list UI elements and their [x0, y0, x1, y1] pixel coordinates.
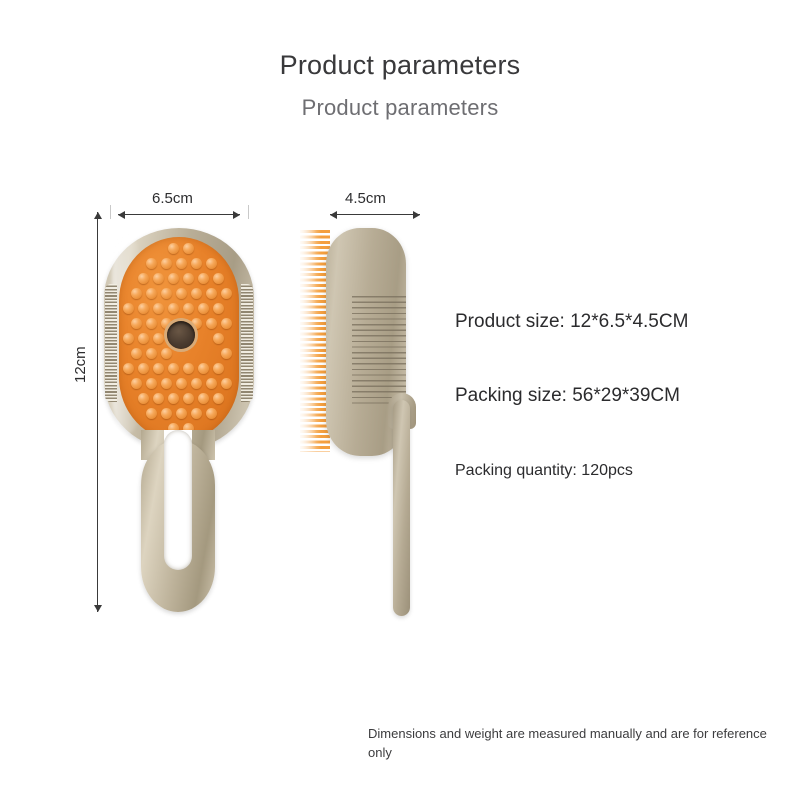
silicone-bump: [131, 288, 142, 299]
silicone-bump: [183, 363, 194, 374]
dimension-tick-right: [248, 205, 249, 219]
silicone-bump: [221, 378, 232, 389]
side-handle: [393, 400, 410, 616]
footer-disclaimer: Dimensions and weight are measured manua…: [368, 725, 768, 763]
silicone-bump: [146, 408, 157, 419]
silicone-bump: [213, 333, 224, 344]
silicone-bump: [213, 363, 224, 374]
dimension-arrow-height: [97, 212, 98, 612]
silicone-bump: [206, 258, 217, 269]
silicone-bump: [146, 318, 157, 329]
silicone-bump: [146, 288, 157, 299]
page-subtitle: Product parameters: [0, 95, 800, 121]
silicone-bump: [213, 273, 224, 284]
silicone-bump: [221, 348, 232, 359]
silicone-bump: [146, 258, 157, 269]
silicone-bump: [168, 243, 179, 254]
silicone-bump: [138, 363, 149, 374]
dimension-arrow-side-width: [330, 214, 420, 215]
silicone-bump: [183, 393, 194, 404]
silicone-bump: [153, 333, 164, 344]
silicone-bump: [168, 273, 179, 284]
silicone-bump: [198, 393, 209, 404]
silicone-bump: [123, 303, 134, 314]
silicone-bump: [206, 408, 217, 419]
product-front-view: [104, 228, 254, 450]
silicone-bump: [206, 378, 217, 389]
silicone-bump: [198, 303, 209, 314]
silicone-bump: [146, 348, 157, 359]
silicone-bump: [198, 273, 209, 284]
dimension-tick-left: [110, 205, 111, 219]
silicone-bump: [146, 378, 157, 389]
page-title: Product parameters: [0, 50, 800, 81]
silicone-bump: [206, 288, 217, 299]
silicone-bump: [213, 393, 224, 404]
spec-packing-size: Packing size: 56*29*39CM: [455, 385, 680, 407]
silicone-bump: [176, 408, 187, 419]
silicone-bump: [138, 393, 149, 404]
silicone-bump: [176, 258, 187, 269]
silicone-bump: [131, 378, 142, 389]
silicone-bump: [123, 363, 134, 374]
spec-packing-quantity: Packing quantity: 120pcs: [455, 462, 633, 480]
product-parameters-page: Product parameters Product parameters 6.…: [0, 0, 800, 800]
silicone-bump: [138, 273, 149, 284]
silicone-bump: [161, 408, 172, 419]
silicone-bump: [183, 273, 194, 284]
silicone-bump: [206, 318, 217, 329]
silicone-bump: [138, 303, 149, 314]
loop-handle-opening: [164, 430, 192, 570]
comb-teeth-right: [241, 284, 253, 402]
silicone-bump: [153, 393, 164, 404]
dimension-arrow-front-width: [118, 214, 240, 215]
silicone-bump: [161, 258, 172, 269]
silicone-bump: [221, 318, 232, 329]
silicone-bump: [191, 258, 202, 269]
dimension-label-side-width: 4.5cm: [345, 190, 386, 207]
silicone-bump: [176, 288, 187, 299]
comb-teeth-left: [105, 284, 117, 402]
silicone-bump: [183, 243, 194, 254]
silicone-bump: [168, 303, 179, 314]
spec-product-size: Product size: 12*6.5*4.5CM: [455, 311, 688, 333]
silicone-bump: [153, 303, 164, 314]
silicone-bump: [161, 348, 172, 359]
silicone-bump: [161, 378, 172, 389]
side-comb-ridges: [352, 296, 406, 404]
silicone-bump: [161, 288, 172, 299]
silicone-bump: [123, 333, 134, 344]
center-nozzle-hole: [167, 321, 195, 349]
dimension-label-front-width: 6.5cm: [152, 190, 193, 207]
silicone-bump: [198, 363, 209, 374]
silicone-bump: [131, 348, 142, 359]
loop-handle: [141, 440, 215, 612]
silicone-bump: [131, 318, 142, 329]
silicone-bump: [138, 333, 149, 344]
silicone-bump: [168, 393, 179, 404]
silicone-bump: [153, 363, 164, 374]
silicone-bump: [221, 288, 232, 299]
silicone-bump: [191, 378, 202, 389]
silicone-bump: [168, 363, 179, 374]
silicone-bump: [213, 303, 224, 314]
silicone-bump: [191, 288, 202, 299]
dimension-label-height: 12cm: [72, 346, 89, 383]
silicone-bump: [183, 303, 194, 314]
silicone-bump: [153, 273, 164, 284]
silicone-bump: [176, 378, 187, 389]
silicone-bump: [191, 408, 202, 419]
